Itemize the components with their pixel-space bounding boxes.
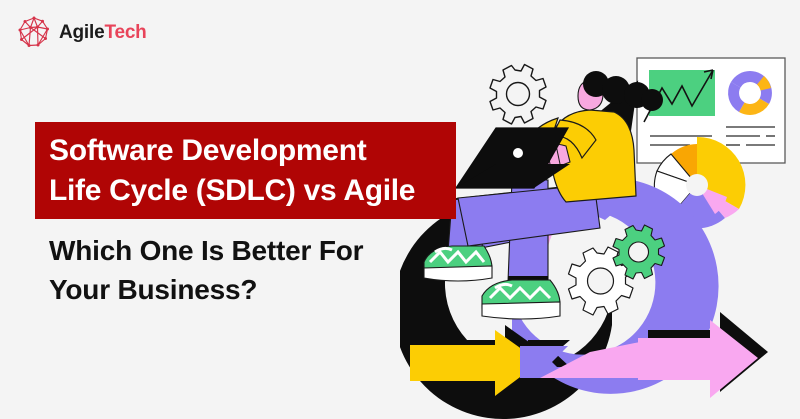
logo-word-primary: Agile <box>59 22 104 43</box>
subtitle-block: Which One Is Better For Your Business? <box>49 231 429 309</box>
blog-banner-canvas: AgileTech <box>0 0 800 419</box>
shoe-back <box>424 246 492 281</box>
subtitle-line-2: Your Business? <box>49 270 429 309</box>
agiletech-logo[interactable]: AgileTech <box>18 16 147 48</box>
logo-wordmark: AgileTech <box>59 23 147 42</box>
headline-line-1: Software Development <box>49 131 442 171</box>
headline-banner: Software Development Life Cycle (SDLC) v… <box>35 122 456 219</box>
logo-word-accent: Tech <box>104 22 146 43</box>
subtitle-line-1: Which One Is Better For <box>49 231 429 270</box>
shoe-front <box>482 280 560 319</box>
headline-line-2: Life Cycle (SDLC) vs Agile <box>49 171 442 211</box>
agiletech-polygon-sphere-logo-icon <box>18 16 50 48</box>
developer-on-sdlc-agile-cycle-illustration <box>400 0 800 419</box>
gear-outline-top-icon <box>490 65 546 125</box>
